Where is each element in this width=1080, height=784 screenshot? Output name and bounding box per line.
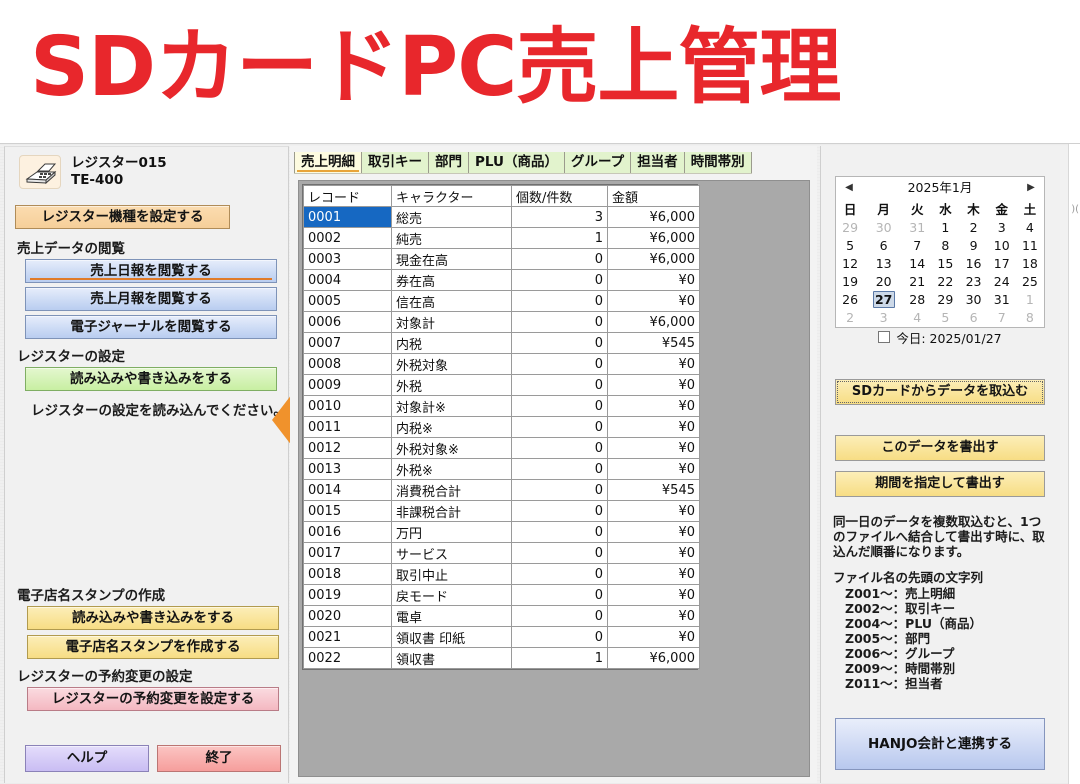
cell-quantity: 0 — [512, 249, 608, 270]
calendar-weekday: 日 — [836, 199, 864, 218]
background-window-peek: )( — [1068, 144, 1080, 784]
calendar-day[interactable]: 25 — [1016, 272, 1044, 290]
calendar-day[interactable]: 30 — [864, 218, 903, 236]
cell-quantity: 0 — [512, 543, 608, 564]
cell-quantity: 0 — [512, 417, 608, 438]
calendar-day-selected[interactable]: 27 — [864, 290, 903, 308]
cell-record: 0013 — [304, 459, 392, 480]
view-daily-report-button[interactable]: 売上日報を閲覧する — [25, 259, 277, 283]
table-row[interactable]: 0018取引中止0¥0 — [304, 564, 700, 585]
today-label: 今日: 2025/01/27 — [896, 328, 1001, 347]
cell-amount: ¥0 — [608, 459, 700, 480]
calendar-day[interactable]: 3 — [864, 308, 903, 326]
cell-record: 0012 — [304, 438, 392, 459]
cell-quantity: 0 — [512, 606, 608, 627]
tab-0[interactable]: 売上明細 — [294, 152, 362, 173]
import-note-text: 同一日のデータを複数取込むと、1つ のファイルへ結合して書出す時に、取 込んだ順… — [833, 514, 1069, 559]
register-model: TE-400 — [71, 172, 167, 189]
view-monthly-report-button[interactable]: 売上月報を閲覧する — [25, 287, 277, 311]
cell-amount: ¥0 — [608, 354, 700, 375]
cell-amount: ¥6,000 — [608, 312, 700, 333]
data-grid-frame: レコード キャラクター 個数/件数 金額 0001総売3¥6,0000002純売… — [298, 180, 810, 777]
cell-character: 外税対象 — [392, 354, 512, 375]
center-panel: 売上明細取引キー部門PLU（商品）グループ担当者時間帯別 レコード キャラクター… — [290, 146, 817, 783]
cell-amount: ¥0 — [608, 564, 700, 585]
table-row[interactable]: 0020電卓0¥0 — [304, 606, 700, 627]
filename-prefix-item: Z001～：売上明細 — [845, 586, 982, 601]
cell-quantity: 0 — [512, 333, 608, 354]
background-window-text: )( — [1071, 204, 1079, 215]
table-row[interactable]: 0002純売1¥6,000 — [304, 228, 700, 249]
calendar-day[interactable]: 31 — [988, 290, 1016, 308]
right-panel: ◀ 2025年1月 ▶ 日月火水木金土 29303112345678910111… — [820, 146, 1078, 783]
register-settings-note: レジスターの設定を読み込んでください。 — [31, 399, 287, 419]
cell-quantity: 0 — [512, 270, 608, 291]
stamp-section-label: 電子店名スタンプの作成 — [17, 584, 165, 604]
data-grid[interactable]: レコード キャラクター 個数/件数 金額 0001総売3¥6,0000002純売… — [302, 184, 698, 670]
calendar-day[interactable]: 31 — [903, 218, 931, 236]
cell-record: 0020 — [304, 606, 392, 627]
calendar-day[interactable]: 6 — [864, 236, 903, 254]
calendar-weekday: 月 — [864, 199, 903, 218]
cell-character: 現金在高 — [392, 249, 512, 270]
calendar-day[interactable]: 8 — [931, 236, 959, 254]
calendar-day[interactable]: 6 — [959, 308, 987, 326]
calendar-weekday: 火 — [903, 199, 931, 218]
view-electronic-journal-button[interactable]: 電子ジャーナルを閲覧する — [25, 315, 277, 339]
cell-character: 外税※ — [392, 459, 512, 480]
cell-character: 純売 — [392, 228, 512, 249]
set-reservation-button[interactable]: レジスターの予約変更を設定する — [27, 687, 279, 711]
cell-amount: ¥0 — [608, 375, 700, 396]
cell-character: 信在高 — [392, 291, 512, 312]
cell-character: 券在高 — [392, 270, 512, 291]
table-row[interactable]: 0017サービス0¥0 — [304, 543, 700, 564]
tab-2[interactable]: 部門 — [429, 152, 469, 173]
calendar-day[interactable]: 19 — [836, 272, 864, 290]
calendar-day[interactable]: 2 — [959, 218, 987, 236]
help-button[interactable]: ヘルプ — [25, 745, 149, 772]
cell-quantity: 0 — [512, 438, 608, 459]
table-row[interactable]: 0011内税※0¥0 — [304, 417, 700, 438]
cell-character: 内税※ — [392, 417, 512, 438]
cell-character: 領収書 印紙 — [392, 627, 512, 648]
calendar-month-label: 2025年1月 — [908, 180, 973, 195]
tab-1[interactable]: 取引キー — [362, 152, 429, 173]
create-stamp-button[interactable]: 電子店名スタンプを作成する — [27, 635, 279, 659]
cell-amount: ¥0 — [608, 417, 700, 438]
cell-amount: ¥0 — [608, 627, 700, 648]
app-root: SDカードPC売上管理 — [0, 0, 1080, 784]
cell-quantity: 0 — [512, 375, 608, 396]
calendar-day[interactable]: 14 — [903, 254, 931, 272]
cell-quantity: 0 — [512, 627, 608, 648]
exit-button[interactable]: 終了 — [157, 745, 281, 772]
cell-character: 対象計※ — [392, 396, 512, 417]
tab-6[interactable]: 時間帯別 — [685, 152, 752, 173]
cell-character: 取引中止 — [392, 564, 512, 585]
column-header-quantity: 個数/件数 — [512, 186, 608, 207]
filename-prefix-heading: ファイル名の先頭の文字列 — [833, 570, 983, 585]
cell-record: 0004 — [304, 270, 392, 291]
table-row[interactable]: 0014消費税合計0¥545 — [304, 480, 700, 501]
calendar-day[interactable]: 17 — [988, 254, 1016, 272]
cell-amount: ¥6,000 — [608, 648, 700, 669]
cell-quantity: 1 — [512, 648, 608, 669]
filename-prefix-item: Z006～：グループ — [845, 646, 982, 661]
cell-character: 万円 — [392, 522, 512, 543]
cell-character: 対象計 — [392, 312, 512, 333]
filename-prefix-item: Z002～：取引キー — [845, 601, 982, 616]
calendar-day[interactable]: 21 — [903, 272, 931, 290]
calendar-day[interactable]: 24 — [988, 272, 1016, 290]
cell-character: 戻モード — [392, 585, 512, 606]
date-picker-calendar[interactable]: ◀ 2025年1月 ▶ 日月火水木金土 29303112345678910111… — [835, 176, 1045, 328]
cell-record: 0006 — [304, 312, 392, 333]
cell-character: 外税 — [392, 375, 512, 396]
cell-record: 0018 — [304, 564, 392, 585]
cell-record: 0011 — [304, 417, 392, 438]
table-row[interactable]: 0015非課税合計0¥0 — [304, 501, 700, 522]
cell-quantity: 0 — [512, 291, 608, 312]
calendar-day[interactable]: 2 — [836, 308, 864, 326]
cell-amount: ¥545 — [608, 333, 700, 354]
cell-quantity: 0 — [512, 480, 608, 501]
cell-character: 領収書 — [392, 648, 512, 669]
calendar-day[interactable]: 22 — [931, 272, 959, 290]
register-header: レジスター015 TE-400 — [19, 155, 167, 189]
cell-amount: ¥0 — [608, 543, 700, 564]
table-row[interactable]: 0001総売3¥6,000 — [304, 207, 700, 228]
cell-quantity: 0 — [512, 585, 608, 606]
cell-quantity: 0 — [512, 459, 608, 480]
export-data-button[interactable]: このデータを書出す — [835, 435, 1045, 461]
calendar-weekday: 土 — [1016, 199, 1044, 218]
filename-prefix-item: Z004～：PLU（商品） — [845, 616, 982, 631]
cell-record: 0001 — [304, 207, 392, 228]
cell-amount: ¥545 — [608, 480, 700, 501]
table-row[interactable]: 0003現金在高0¥6,000 — [304, 249, 700, 270]
calendar-day[interactable]: 29 — [836, 218, 864, 236]
cell-amount: ¥0 — [608, 501, 700, 522]
app-window: レジスター015 TE-400 レジスター機種を設定する 売上データの閲覧 売上… — [0, 143, 1080, 784]
cell-character: 総売 — [392, 207, 512, 228]
table-row[interactable]: 0016万円0¥0 — [304, 522, 700, 543]
import-from-sd-button[interactable]: SDカードからデータを取込む — [835, 379, 1045, 405]
calendar-day[interactable]: 11 — [1016, 236, 1044, 254]
cell-record: 0007 — [304, 333, 392, 354]
table-row[interactable]: 0007内税0¥545 — [304, 333, 700, 354]
calendar-footer: 今日: 2025/01/27 — [836, 326, 1044, 348]
calendar-day[interactable]: 9 — [959, 236, 987, 254]
stamp-read-write-button[interactable]: 読み込みや書き込みをする — [27, 606, 279, 630]
column-header-amount: 金額 — [608, 186, 700, 207]
column-header-record: レコード — [304, 186, 392, 207]
cell-record: 0022 — [304, 648, 392, 669]
left-sidebar: レジスター015 TE-400 レジスター機種を設定する 売上データの閲覧 売上… — [4, 146, 289, 783]
triangle-left-icon[interactable]: ◀ — [840, 177, 858, 199]
register-read-write-button[interactable]: 読み込みや書き込みをする — [25, 367, 277, 391]
calendar-day[interactable]: 26 — [836, 290, 864, 308]
cell-record: 0010 — [304, 396, 392, 417]
page-title: SDカードPC売上管理 — [30, 18, 840, 118]
calendar-day[interactable]: 7 — [988, 308, 1016, 326]
cell-record: 0016 — [304, 522, 392, 543]
calendar-day[interactable]: 8 — [1016, 308, 1044, 326]
calendar-day[interactable]: 3 — [988, 218, 1016, 236]
cell-quantity: 3 — [512, 207, 608, 228]
cell-character: 電卓 — [392, 606, 512, 627]
cell-character: 内税 — [392, 333, 512, 354]
cell-quantity: 0 — [512, 522, 608, 543]
calendar-day[interactable]: 23 — [959, 272, 987, 290]
calendar-day[interactable]: 1 — [1016, 290, 1044, 308]
cell-character: 消費税合計 — [392, 480, 512, 501]
today-checkbox[interactable] — [878, 331, 890, 343]
cell-amount: ¥0 — [608, 585, 700, 606]
calendar-weekday: 金 — [988, 199, 1016, 218]
cell-record: 0017 — [304, 543, 392, 564]
calendar-day[interactable]: 12 — [836, 254, 864, 272]
table-row[interactable]: 0019戻モード0¥0 — [304, 585, 700, 606]
cell-amount: ¥0 — [608, 438, 700, 459]
table-header-row: レコード キャラクター 個数/件数 金額 — [304, 186, 700, 207]
cell-record: 0021 — [304, 627, 392, 648]
calendar-grid[interactable]: 日月火水木金土 29303112345678910111213141516171… — [836, 199, 1044, 326]
selection-arrow-icon — [272, 394, 292, 446]
cell-amount: ¥0 — [608, 270, 700, 291]
table-row[interactable]: 0009外税0¥0 — [304, 375, 700, 396]
calendar-day[interactable]: 5 — [836, 236, 864, 254]
calendar-day[interactable]: 29 — [931, 290, 959, 308]
table-row[interactable]: 0005信在高0¥0 — [304, 291, 700, 312]
cell-record: 0014 — [304, 480, 392, 501]
cell-amount: ¥0 — [608, 522, 700, 543]
export-period-button[interactable]: 期間を指定して書出す — [835, 471, 1045, 497]
cell-quantity: 0 — [512, 501, 608, 522]
calendar-day[interactable]: 7 — [903, 236, 931, 254]
cell-record: 0015 — [304, 501, 392, 522]
table-row[interactable]: 0022領収書1¥6,000 — [304, 648, 700, 669]
cell-quantity: 0 — [512, 354, 608, 375]
cell-record: 0008 — [304, 354, 392, 375]
cell-amount: ¥6,000 — [608, 207, 700, 228]
cell-record: 0002 — [304, 228, 392, 249]
table-row[interactable]: 0021領収書 印紙0¥0 — [304, 627, 700, 648]
calendar-day[interactable]: 28 — [903, 290, 931, 308]
tab-bar: 売上明細取引キー部門PLU（商品）グループ担当者時間帯別 — [294, 152, 752, 174]
cell-amount: ¥0 — [608, 291, 700, 312]
cell-character: 非課税合計 — [392, 501, 512, 522]
calendar-day[interactable]: 16 — [959, 254, 987, 272]
tab-3[interactable]: PLU（商品） — [469, 152, 565, 173]
filename-prefix-item: Z005～：部門 — [845, 631, 982, 646]
hanjo-link-button[interactable]: HANJO会計と連携する — [835, 718, 1045, 770]
calendar-day[interactable]: 30 — [959, 290, 987, 308]
register-settings-label: レジスターの設定 — [17, 345, 125, 365]
calendar-day[interactable]: 5 — [931, 308, 959, 326]
calendar-day[interactable]: 4 — [1016, 218, 1044, 236]
tab-5[interactable]: 担当者 — [631, 152, 685, 173]
cell-amount: ¥0 — [608, 396, 700, 417]
reservation-section-label: レジスターの予約変更の設定 — [17, 665, 193, 685]
triangle-right-icon[interactable]: ▶ — [1022, 177, 1040, 199]
title-banner: SDカードPC売上管理 — [0, 0, 1080, 143]
cell-amount: ¥0 — [608, 606, 700, 627]
cell-character: 外税対象※ — [392, 438, 512, 459]
cell-amount: ¥6,000 — [608, 228, 700, 249]
calendar-day[interactable]: 18 — [1016, 254, 1044, 272]
calendar-weekday: 木 — [959, 199, 987, 218]
table-row[interactable]: 0006対象計0¥6,000 — [304, 312, 700, 333]
cell-record: 0005 — [304, 291, 392, 312]
calendar-weekday: 水 — [931, 199, 959, 218]
cell-record: 0009 — [304, 375, 392, 396]
table-row[interactable]: 0010対象計※0¥0 — [304, 396, 700, 417]
cell-quantity: 0 — [512, 564, 608, 585]
calendar-day[interactable]: 10 — [988, 236, 1016, 254]
cell-quantity: 1 — [512, 228, 608, 249]
table-row[interactable]: 0008外税対象0¥0 — [304, 354, 700, 375]
calendar-day[interactable]: 15 — [931, 254, 959, 272]
set-register-model-button[interactable]: レジスター機種を設定する — [15, 205, 230, 229]
register-name: レジスター015 — [71, 155, 167, 172]
column-header-character: キャラクター — [392, 186, 512, 207]
filename-prefix-item: Z009～：時間帯別 — [845, 661, 982, 676]
table-row[interactable]: 0004券在高0¥0 — [304, 270, 700, 291]
calendar-day[interactable]: 4 — [903, 308, 931, 326]
filename-prefix-list: Z001～：売上明細Z002～：取引キーZ004～：PLU（商品）Z005～：部… — [845, 586, 982, 691]
cell-record: 0019 — [304, 585, 392, 606]
cell-quantity: 0 — [512, 312, 608, 333]
cell-character: サービス — [392, 543, 512, 564]
calendar-header: ◀ 2025年1月 ▶ — [836, 177, 1044, 199]
calendar-day[interactable]: 1 — [931, 218, 959, 236]
table-row[interactable]: 0013外税※0¥0 — [304, 459, 700, 480]
cell-amount: ¥6,000 — [608, 249, 700, 270]
tab-4[interactable]: グループ — [565, 152, 631, 173]
sales-data-view-label: 売上データの閲覧 — [17, 237, 125, 257]
calendar-day[interactable]: 20 — [864, 272, 903, 290]
table-row[interactable]: 0012外税対象※0¥0 — [304, 438, 700, 459]
cell-record: 0003 — [304, 249, 392, 270]
calendar-day[interactable]: 13 — [864, 254, 903, 272]
filename-prefix-item: Z011～：担当者 — [845, 676, 982, 691]
cash-register-icon — [19, 155, 61, 189]
cell-quantity: 0 — [512, 396, 608, 417]
